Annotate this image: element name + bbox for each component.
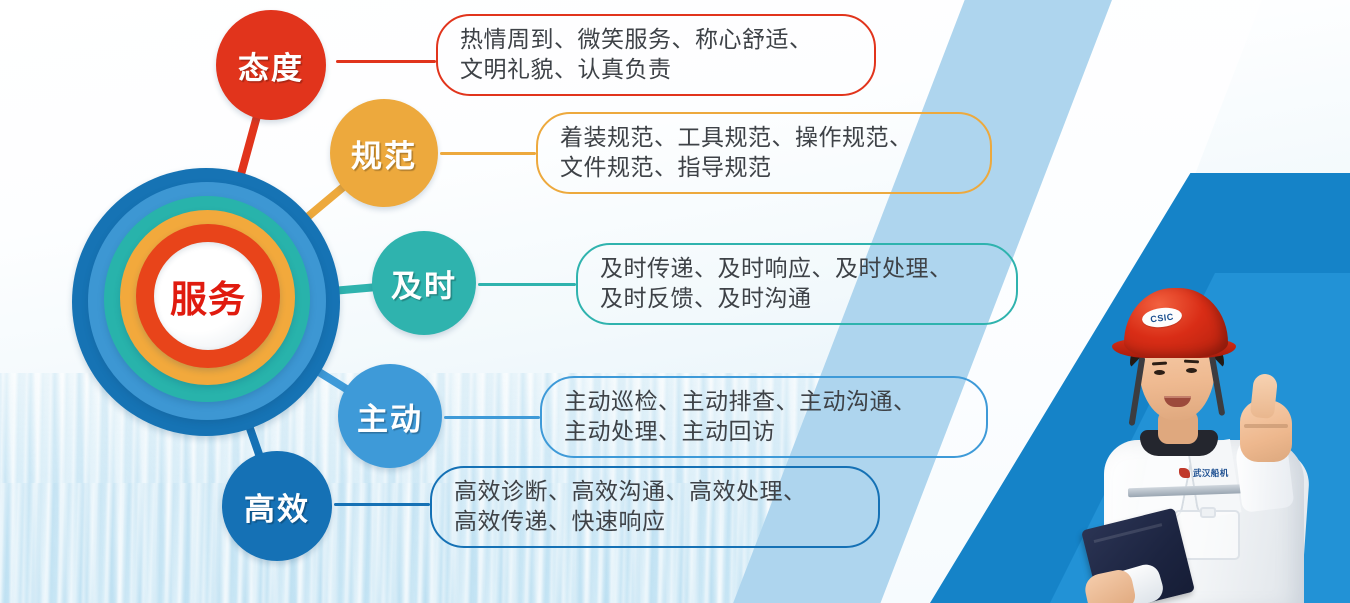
connector-efficient [334,503,430,506]
infographic-canvas: 服务 态度热情周到、微笑服务、称心舒适、文明礼貌、认真负责规范着装规范、工具规范… [0,0,1350,603]
node-label-proactive: 主动 [357,394,423,439]
connector-attitude [336,60,436,63]
node-label-timely: 及时 [391,261,457,306]
detail-line-2-efficient: 高效传递、快速响应 [454,508,666,534]
uniform-logo: 武汉船机 [1179,466,1241,479]
worker-eye-right [1186,368,1197,373]
node-efficient[interactable]: 高效 [222,451,332,561]
detail-box-efficient: 高效诊断、高效沟通、高效处理、高效传递、快速响应 [430,466,880,548]
detail-line-1-attitude: 热情周到、微笑服务、称心舒适、 [460,26,813,52]
connector-proactive [444,416,540,419]
detail-line-2-standard: 文件规范、指导规范 [560,154,772,180]
detail-line-1-proactive: 主动巡检、主动排查、主动沟通、 [564,388,917,414]
detail-line-1-timely: 及时传递、及时响应、及时处理、 [600,255,953,281]
node-label-attitude: 态度 [238,43,304,88]
thumbs-up-icon [1250,373,1278,419]
detail-box-timely: 及时传递、及时响应、及时处理、及时反馈、及时沟通 [576,243,1018,325]
concentric-rings: 服务 [72,168,340,436]
detail-line-1-efficient: 高效诊断、高效沟通、高效处理、 [454,478,807,504]
worker-knuckle-line [1244,424,1288,428]
detail-line-2-proactive: 主动处理、主动回访 [564,418,776,444]
detail-line-2-timely: 及时反馈、及时沟通 [600,285,812,311]
worker-eye-left [1154,370,1165,375]
uniform-logo-text: 武汉船机 [1193,467,1229,479]
worker-photo: 武汉船机 CSIC [1082,282,1350,603]
node-attitude[interactable]: 态度 [216,10,326,120]
uniform-logo-mark [1179,468,1190,478]
detail-line-2-attitude: 文明礼貌、认真负责 [460,56,672,82]
node-proactive[interactable]: 主动 [338,364,442,468]
detail-box-standard: 着装规范、工具规范、操作规范、文件规范、指导规范 [536,112,992,194]
node-standard[interactable]: 规范 [330,99,438,207]
node-label-standard: 规范 [351,131,417,176]
center-label: 服务 [154,242,262,350]
connector-timely [478,283,576,286]
connector-standard [440,152,536,155]
detail-line-1-standard: 着装规范、工具规范、操作规范、 [560,124,913,150]
node-timely[interactable]: 及时 [372,231,476,335]
node-label-efficient: 高效 [244,484,310,529]
detail-box-proactive: 主动巡检、主动排查、主动沟通、主动处理、主动回访 [540,376,988,458]
detail-box-attitude: 热情周到、微笑服务、称心舒适、文明礼貌、认真负责 [436,14,876,96]
